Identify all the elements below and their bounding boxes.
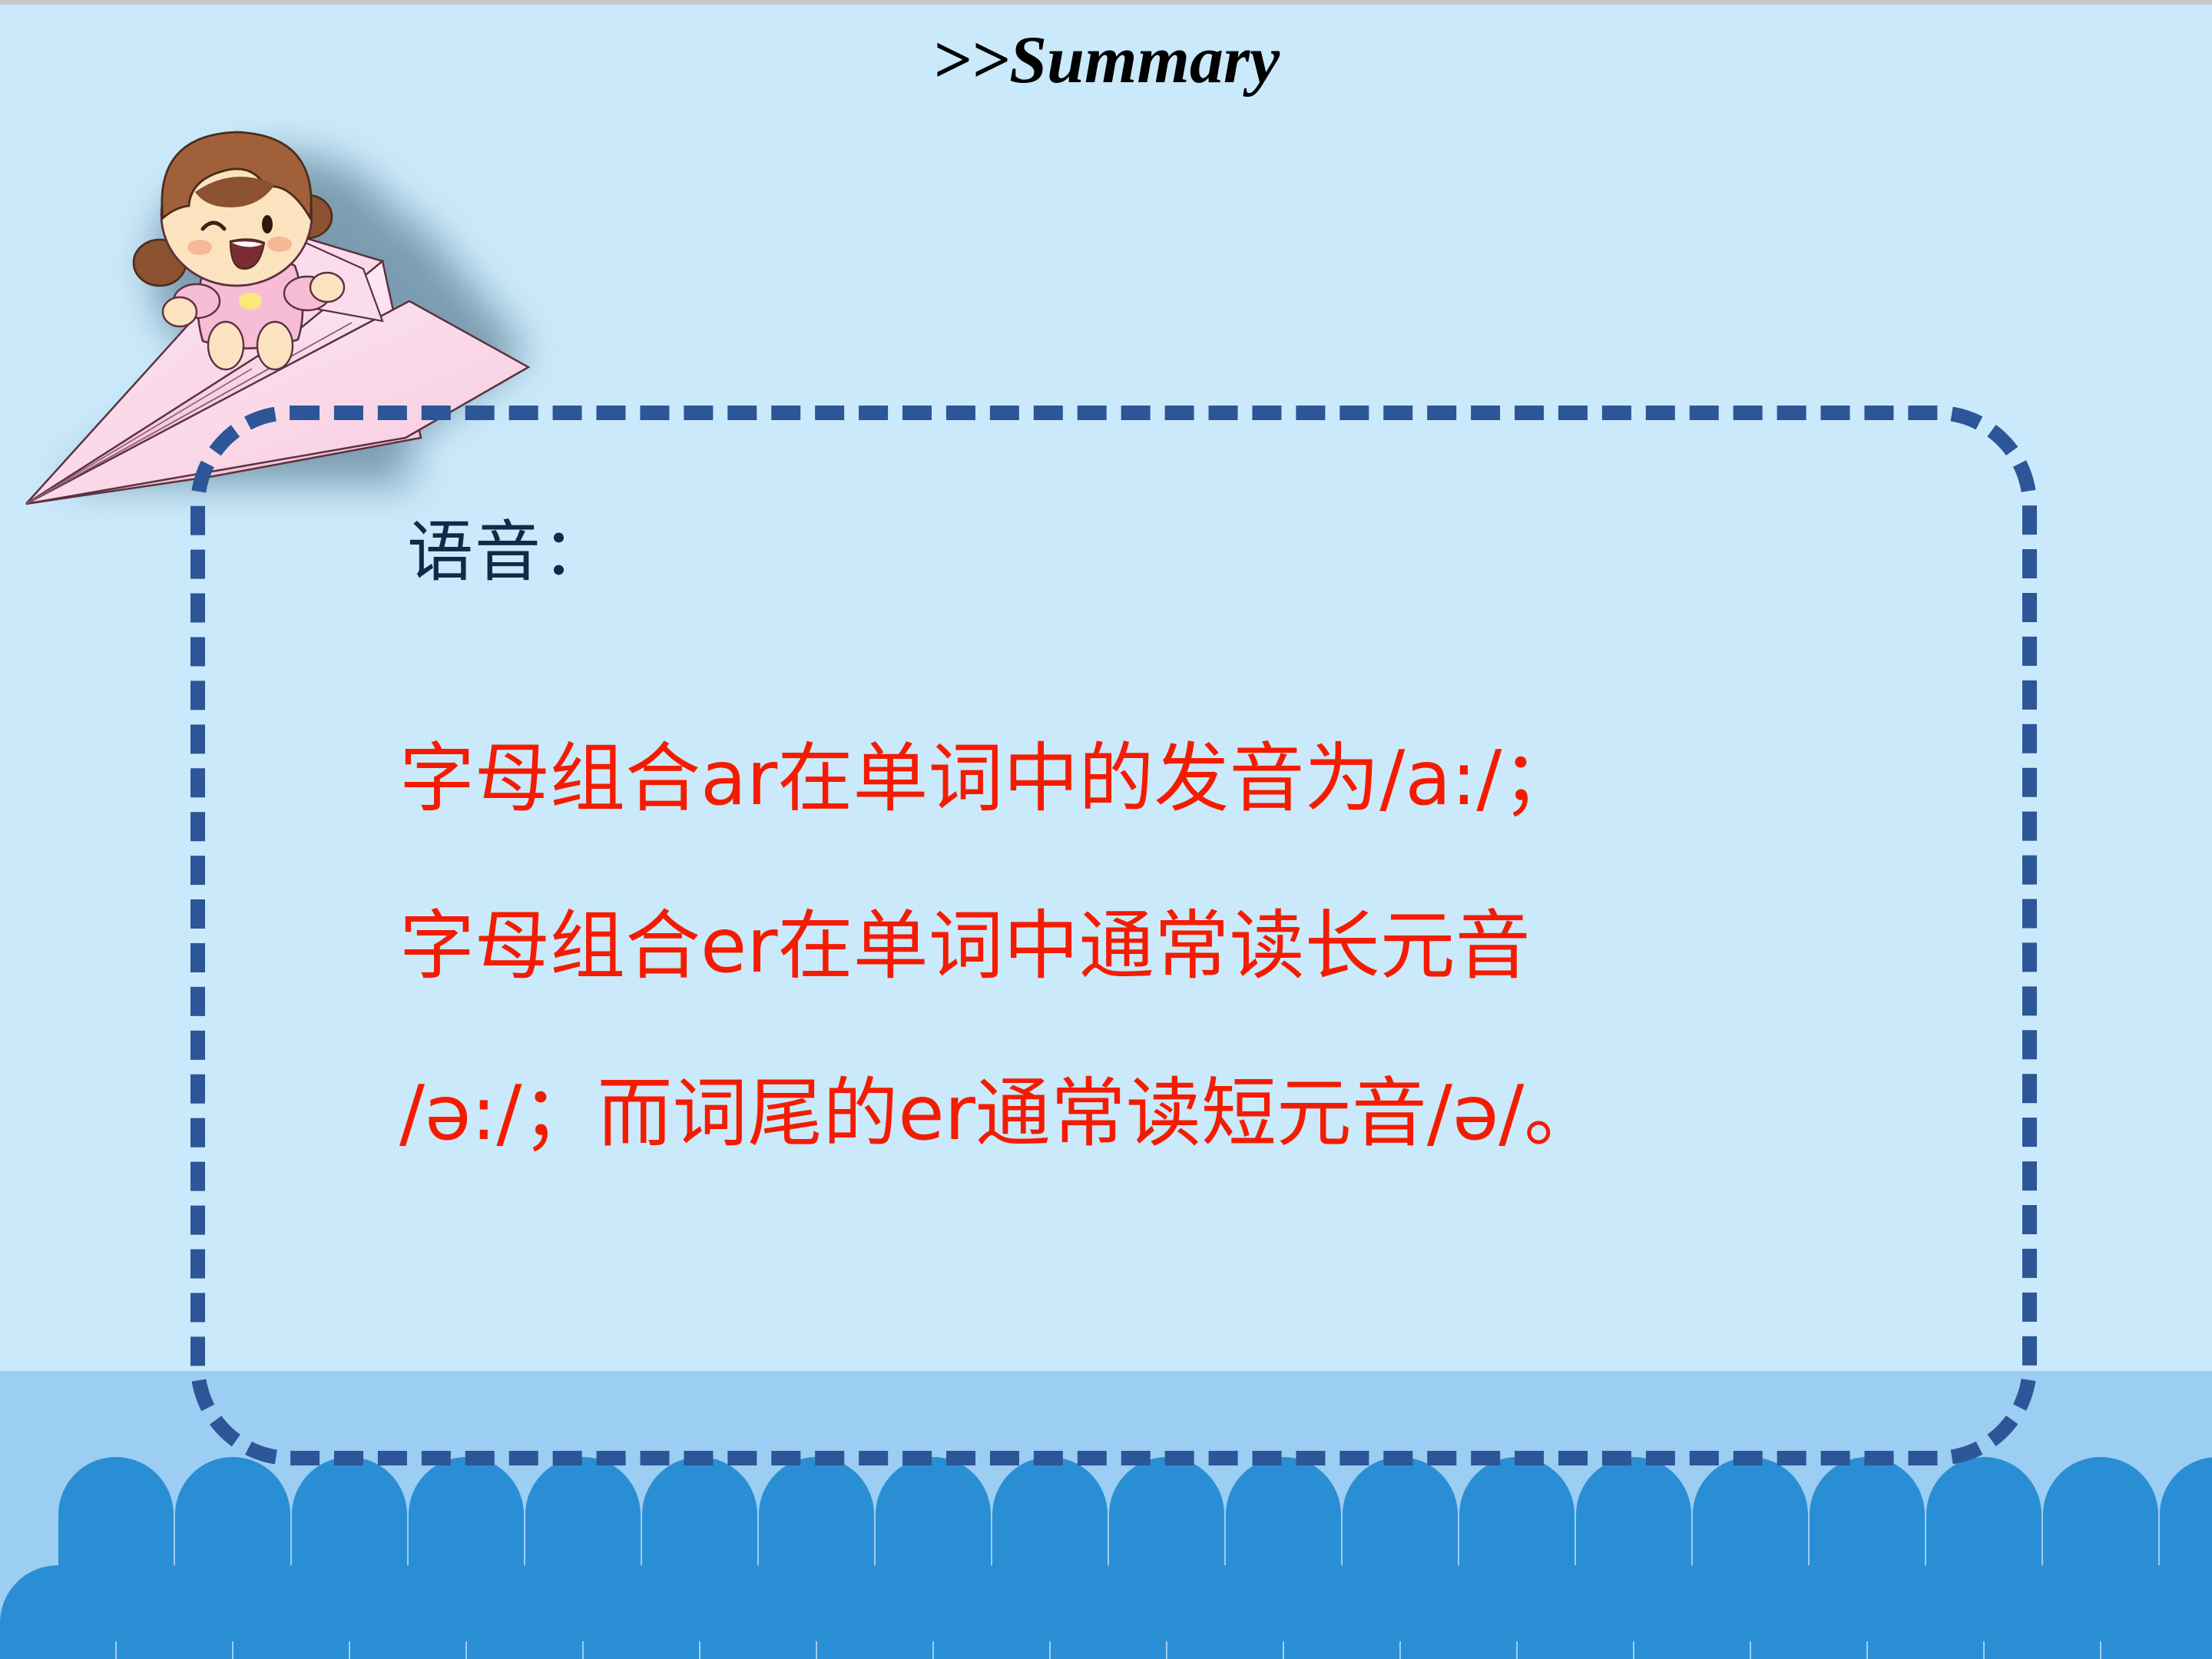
- arch-shape: [1284, 1565, 1399, 1659]
- arch-shape: [350, 1565, 465, 1659]
- summary-line-2: 字母组合er在单词中通常读长元音: [399, 863, 1982, 1030]
- arch-shape: [700, 1565, 816, 1659]
- arch-shape: [1518, 1565, 1633, 1659]
- arch-shape: [467, 1565, 582, 1659]
- arch-shape: [1985, 1565, 2100, 1659]
- arch-row-front: [0, 1565, 2212, 1659]
- arch-shape: [1634, 1565, 1750, 1659]
- slide-canvas: >>Summary 语音： 字母组合ar在单词中的发音为/a:/； 字母组合er…: [0, 0, 2212, 1659]
- section-label-phonetics: 语音：: [407, 498, 610, 594]
- arch-shape: [1051, 1565, 1166, 1659]
- arch-shape: [2101, 1565, 2212, 1659]
- arch-shape: [1751, 1565, 1866, 1659]
- arch-shape: [817, 1565, 932, 1659]
- arch-shape: [233, 1565, 349, 1659]
- arch-shape: [1401, 1565, 1516, 1659]
- summary-line-1: 字母组合ar在单词中的发音为/a:/；: [399, 695, 1982, 863]
- summary-line-3: /ə:/；而词尾的er通常读短元音/ə/。: [399, 1030, 1982, 1197]
- arch-shape: [117, 1565, 232, 1659]
- page-title: >>Summary: [0, 22, 2212, 99]
- summary-text-block: 字母组合ar在单词中的发音为/a:/； 字母组合er在单词中通常读长元音 /ə:…: [399, 695, 1982, 1197]
- arch-shape: [1868, 1565, 1983, 1659]
- arch-shape: [584, 1565, 699, 1659]
- arch-shape: [934, 1565, 1049, 1659]
- arch-shape: [1167, 1565, 1283, 1659]
- arch-shape: [0, 1565, 115, 1659]
